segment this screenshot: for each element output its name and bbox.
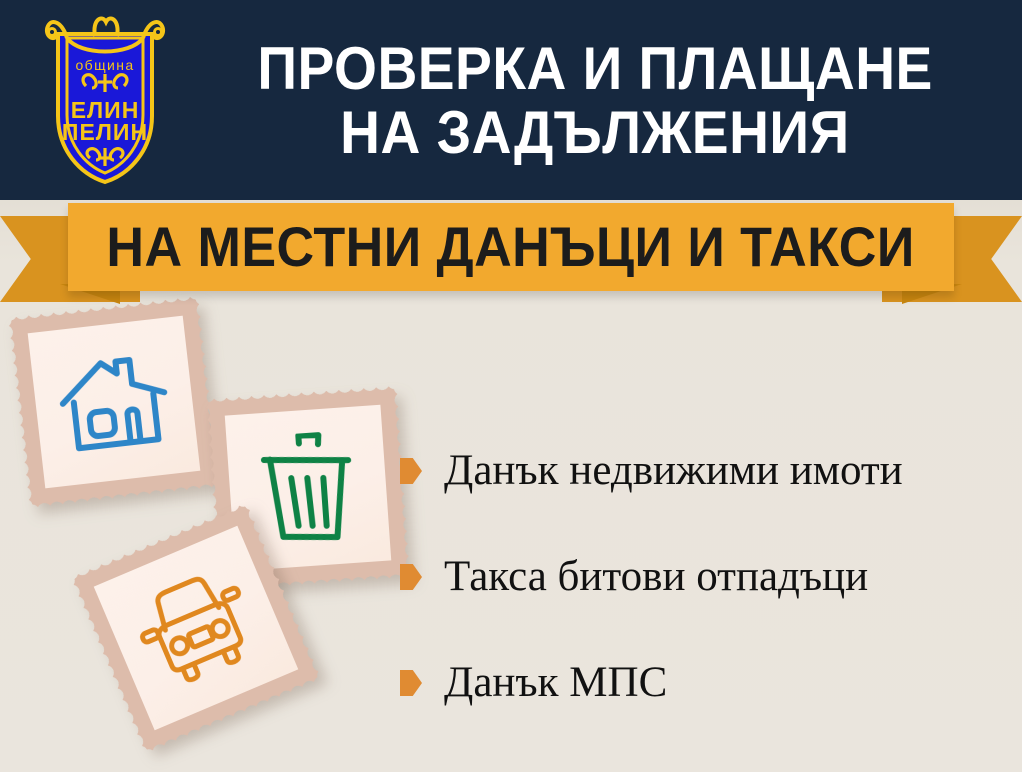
list-item: Данък МПС <box>400 630 1010 736</box>
house-icon <box>52 344 175 460</box>
municipality-logo: община ЕЛИН ПЕЛИН <box>40 8 170 188</box>
list-item-label: Данък МПС <box>444 660 667 706</box>
list-item: Данък недвижими имоти <box>400 418 1010 524</box>
arrow-bullet-icon <box>400 458 422 484</box>
page-title: ПРОВЕРКА И ПЛАЩАНЕ НА ЗАДЪЛЖЕНИЯ <box>180 18 1010 183</box>
svg-text:ПЕЛИН: ПЕЛИН <box>62 119 148 145</box>
ribbon-label: НА МЕСТНИ ДАНЪЦИ И ТАКСИ <box>107 218 915 276</box>
tax-type-list: Данък недвижими имоти Такса битови отпад… <box>400 418 1010 736</box>
arrow-bullet-icon <box>400 564 422 590</box>
svg-text:община: община <box>75 57 134 73</box>
arrow-bullet-icon <box>400 670 422 696</box>
list-item-label: Данък недвижими имоти <box>444 448 903 494</box>
trash-bin-icon <box>254 430 361 547</box>
list-item: Такса битови отпадъци <box>400 524 1010 630</box>
ribbon-banner: НА МЕСТНИ ДАНЪЦИ И ТАКСИ <box>68 203 954 291</box>
header-bar: община ЕЛИН ПЕЛИН <box>0 0 1022 200</box>
poster-root: община ЕЛИН ПЕЛИН <box>0 0 1022 772</box>
title-line-2: НА ЗАДЪЛЖЕНИЯ <box>340 101 850 165</box>
stamp-paper <box>28 316 201 489</box>
title-line-1: ПРОВЕРКА И ПЛАЩАНЕ <box>257 37 932 101</box>
list-item-label: Такса битови отпадъци <box>444 554 868 600</box>
car-front-icon <box>122 559 270 697</box>
stamp-collage <box>0 290 430 772</box>
subtitle-ribbon: НА МЕСТНИ ДАНЪЦИ И ТАКСИ <box>0 196 1022 306</box>
stamp-card-property <box>3 291 224 512</box>
